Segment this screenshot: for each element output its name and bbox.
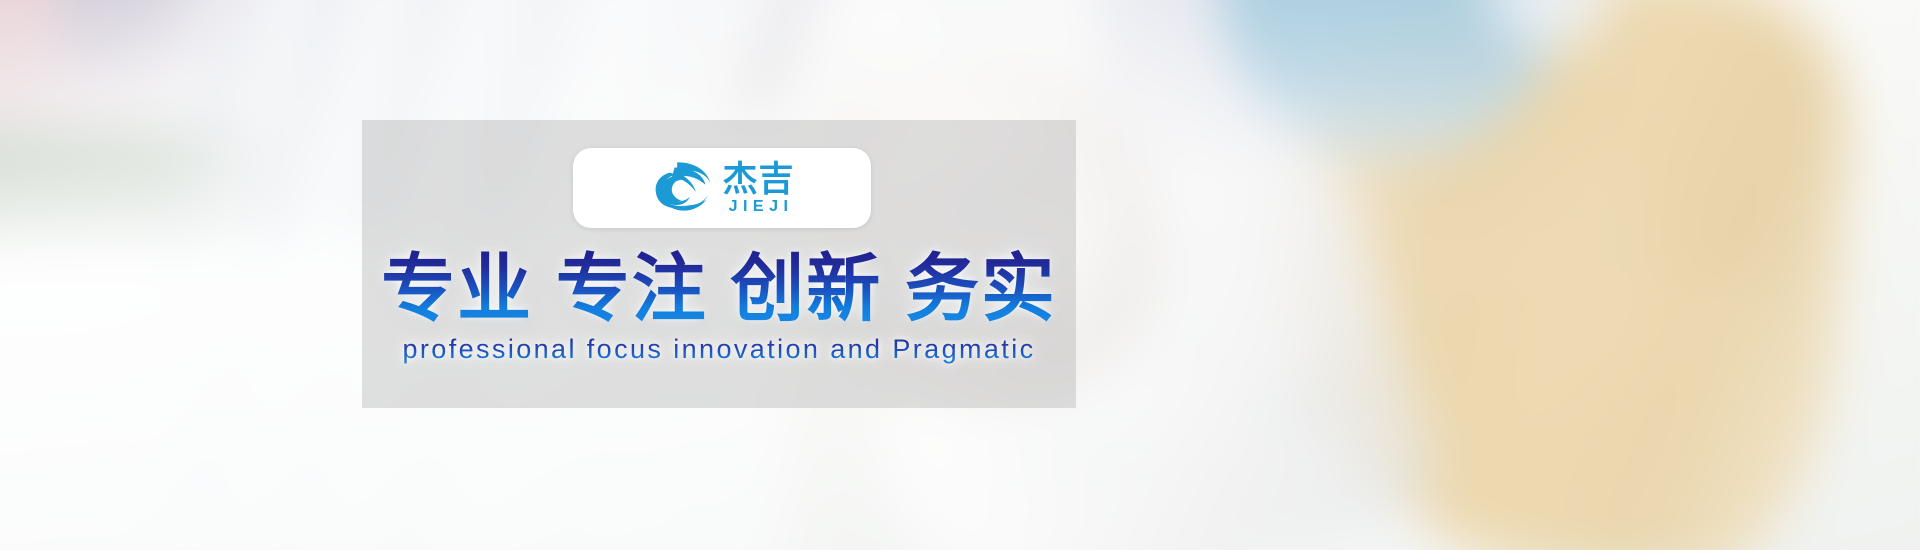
hero-banner: 杰吉 JIEJI 专业 专注 创新 务实 professional focus … xyxy=(0,0,1920,550)
wave-swoosh-icon xyxy=(649,156,713,220)
slogan-headline: 专业 专注 创新 务实 xyxy=(362,247,1076,331)
brand-logo[interactable]: 杰吉 JIEJI xyxy=(573,148,871,228)
brand-name-en: JIEJI xyxy=(729,199,794,215)
brand-wordmark: 杰吉 JIEJI xyxy=(722,162,794,215)
slogan-subline: professional focus innovation and Pragma… xyxy=(362,334,1076,365)
brand-name-cn: 杰吉 xyxy=(722,162,794,197)
